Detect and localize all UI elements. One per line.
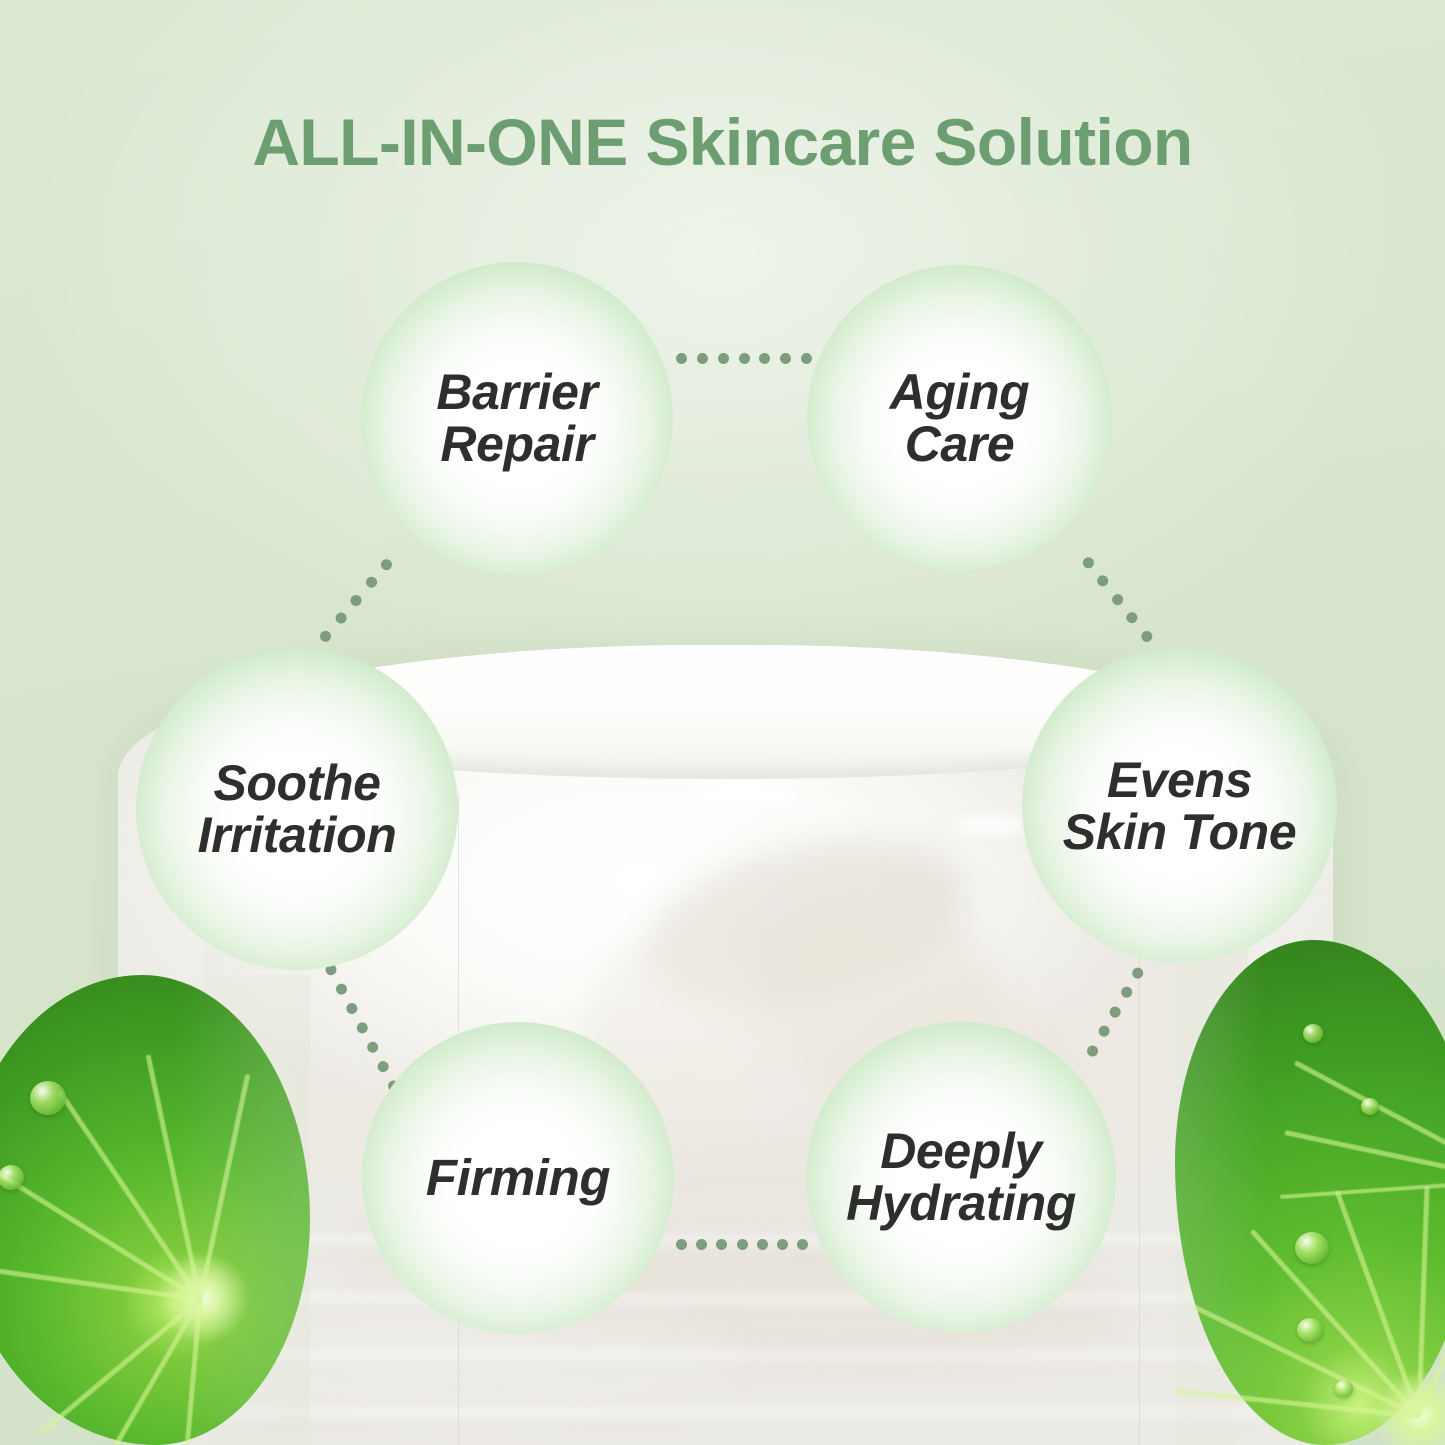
- benefit-bubble-barrier-repair[interactable]: Barrier Repair: [361, 262, 673, 574]
- benefit-bubble-soothe-irritation[interactable]: Soothe Irritation: [136, 648, 458, 970]
- connector-dot: [718, 353, 729, 364]
- connector-dot: [737, 1239, 748, 1250]
- benefit-label: Soothe Irritation: [188, 757, 407, 861]
- benefit-label-line2: Skin Tone: [1063, 804, 1296, 860]
- connector-dot: [759, 353, 770, 364]
- benefit-label: Evens Skin Tone: [1053, 754, 1306, 858]
- connector-dot: [797, 1239, 808, 1250]
- connector-firming-to-hydrating: [676, 1239, 808, 1250]
- connector-dot: [777, 1239, 788, 1250]
- benefit-label: Aging Care: [880, 366, 1040, 470]
- benefit-bubble-evens-skin-tone[interactable]: Evens Skin Tone: [1022, 648, 1337, 963]
- benefit-label: Deeply Hydrating: [836, 1125, 1086, 1229]
- connector-dot: [739, 353, 750, 364]
- benefit-bubble-deeply-hydrating[interactable]: Deeply Hydrating: [806, 1022, 1116, 1332]
- benefit-label-line2: Care: [905, 416, 1015, 472]
- benefit-label-line1: Evens: [1107, 752, 1252, 808]
- connector-dot: [697, 353, 708, 364]
- connector-barrier-to-aging: [676, 353, 812, 364]
- benefit-label-line1: Soothe: [213, 755, 380, 811]
- benefit-label-line1: Firming: [426, 1149, 610, 1206]
- benefit-bubble-aging-care[interactable]: Aging Care: [807, 265, 1112, 570]
- connector-dot: [716, 1239, 727, 1250]
- benefit-label: Firming: [416, 1151, 620, 1204]
- connector-dot: [801, 353, 812, 364]
- benefit-label: Barrier Repair: [426, 366, 607, 470]
- connector-dot: [757, 1239, 768, 1250]
- benefit-label-line2: Irritation: [198, 807, 397, 863]
- infographic-canvas: ALL-IN-ONE Skincare Solution Barrier Rep…: [0, 0, 1445, 1445]
- connector-dot: [696, 1239, 707, 1250]
- benefit-bubble-firming[interactable]: Firming: [362, 1022, 674, 1334]
- benefit-label-line2: Hydrating: [846, 1175, 1076, 1231]
- benefit-label-line1: Aging: [890, 364, 1030, 420]
- benefit-label-line1: Deeply: [880, 1123, 1042, 1179]
- connector-dot: [780, 353, 791, 364]
- benefit-label-line2: Repair: [440, 416, 593, 472]
- connector-dot: [676, 353, 687, 364]
- connector-dot: [676, 1239, 687, 1250]
- page-title: ALL-IN-ONE Skincare Solution: [0, 104, 1445, 180]
- benefit-label-line1: Barrier: [436, 364, 597, 420]
